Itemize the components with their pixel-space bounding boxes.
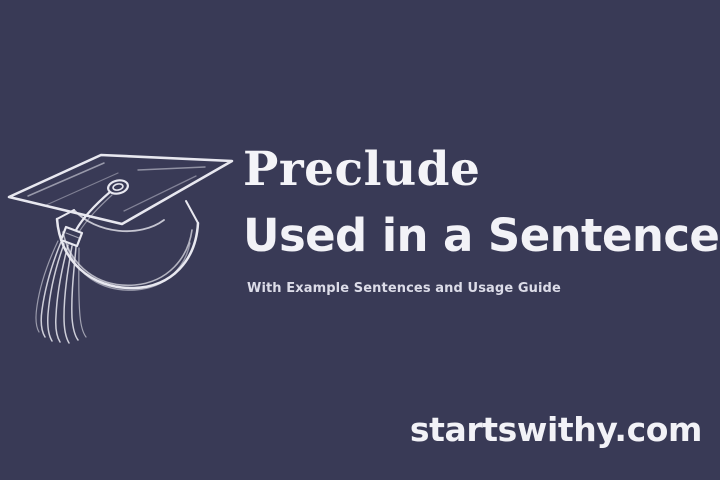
banner-image: Preclude Used in a Sentence With Example… xyxy=(0,0,720,480)
word-title: Preclude xyxy=(243,142,713,198)
graduation-cap-icon xyxy=(0,138,245,353)
text-block: Preclude Used in a Sentence With Example… xyxy=(243,142,713,298)
subtitle: With Example Sentences and Usage Guide xyxy=(247,280,713,298)
headline: Used in a Sentence xyxy=(243,210,713,262)
site-domain: startswithy.com xyxy=(0,410,702,450)
